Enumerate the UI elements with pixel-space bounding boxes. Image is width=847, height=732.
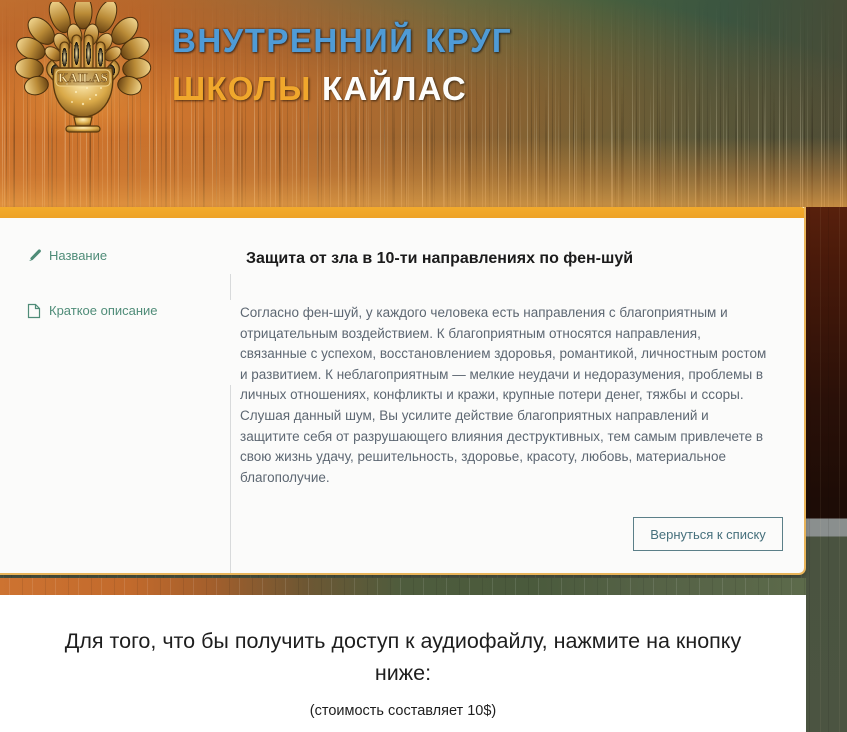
field-row-title: Название Защита от зла в 10-ти направлен… bbox=[0, 248, 804, 272]
card-accent-bar bbox=[0, 207, 806, 218]
field-divider bbox=[230, 385, 231, 575]
svg-text:KAILAS: KAILAS bbox=[58, 70, 108, 85]
field-label-title-text: Название bbox=[49, 248, 107, 264]
field-divider bbox=[230, 274, 231, 300]
section-separator-strip bbox=[0, 578, 806, 595]
back-to-list-button-label: Вернуться к списку bbox=[650, 527, 766, 542]
banner-title-line-2: ШКОЛЫ КАЙЛАС bbox=[172, 70, 792, 108]
banner-title-block: ВНУТРЕННИЙ КРУГ ШКОЛЫ КАЙЛАС bbox=[172, 22, 792, 108]
pencil-icon bbox=[27, 248, 41, 264]
field-label-title: Название bbox=[27, 248, 107, 264]
kailas-hand-emblem-logo[interactable]: KAILAS bbox=[4, 2, 162, 152]
banner-title-line-1: ВНУТРЕННИЙ КРУГ bbox=[172, 22, 792, 60]
cta-heading: Для того, что бы получить доступ к аудио… bbox=[55, 595, 751, 689]
site-header-banner: KAILAS ВНУТРЕННИЙ КРУГ ШКОЛЫ КАЙЛАС bbox=[0, 0, 847, 207]
logo-wordmark: KAILAS bbox=[56, 70, 110, 86]
description-text: Согласно фен-шуй, у каждого человека ест… bbox=[240, 303, 770, 488]
banner-title-accent: ШКОЛЫ bbox=[172, 70, 312, 107]
card-body: Название Защита от зла в 10-ти направлен… bbox=[0, 218, 804, 573]
cta-price-note: (стоимость составляет 10$) bbox=[55, 703, 751, 719]
field-label-description-text: Краткое описание bbox=[49, 303, 158, 319]
content-card: Название Защита от зла в 10-ти направлен… bbox=[0, 207, 806, 575]
page-title: Защита от зла в 10-ти направлениях по фе… bbox=[246, 248, 766, 270]
banner-title-rest: КАЙЛАС bbox=[322, 70, 467, 107]
strip-streak-texture bbox=[0, 578, 806, 595]
field-label-description: Краткое описание bbox=[27, 303, 158, 319]
purchase-cta-panel: Для того, что бы получить доступ к аудио… bbox=[0, 595, 806, 732]
document-icon bbox=[27, 303, 41, 319]
back-to-list-button[interactable]: Вернуться к списку bbox=[633, 517, 783, 551]
